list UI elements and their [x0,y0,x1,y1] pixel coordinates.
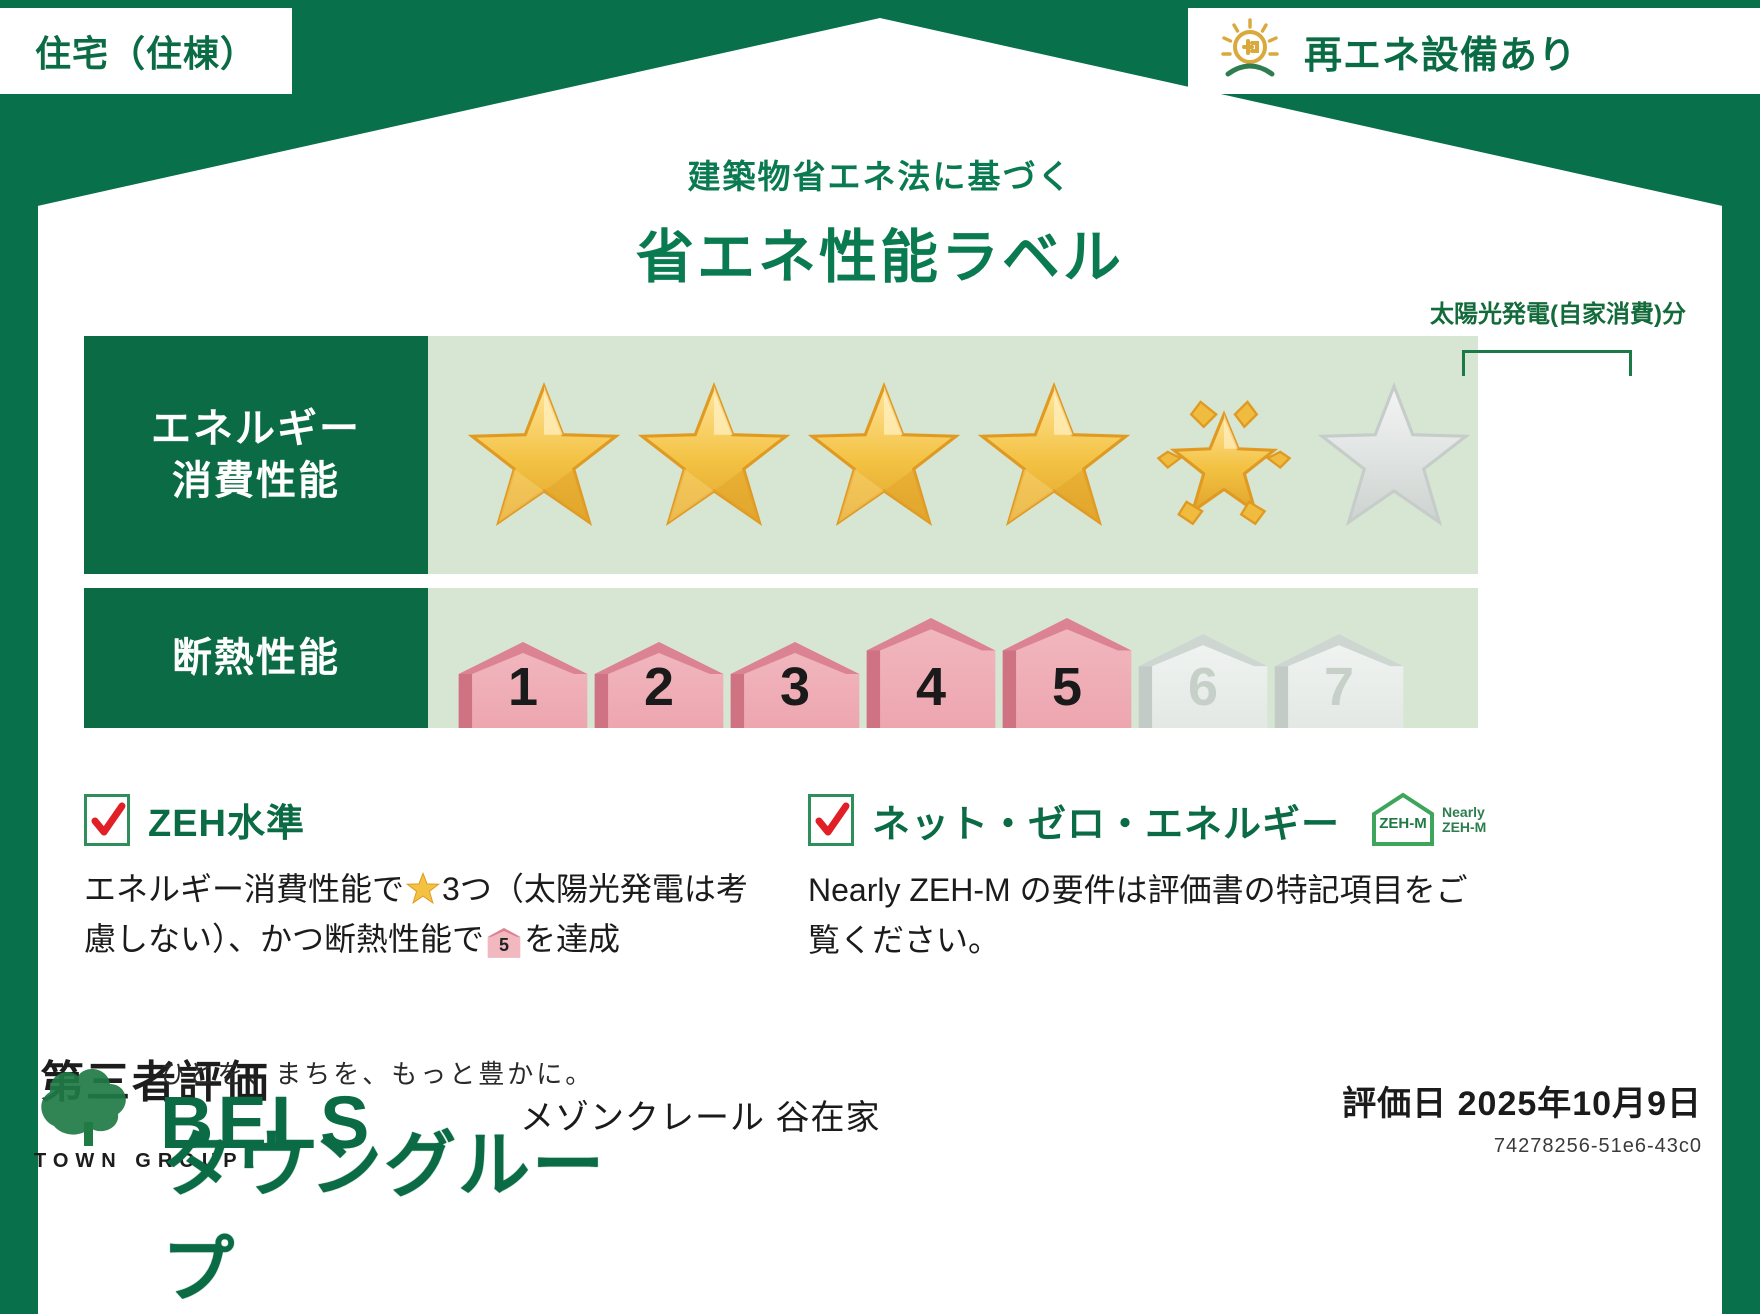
insulation-house-5-number: 5 [1000,656,1134,718]
insulation-performance-label: 断熱性能 [84,588,428,728]
dwelling-type-tag: 住宅（住棟） [0,8,292,94]
insulation-house-6-number: 6 [1136,656,1270,718]
company-tagline: ひとを、まちを、もっと豊かに。 [160,1054,594,1091]
inline-house-number: 5 [487,932,521,960]
dwelling-type-label: 住宅（住棟） [35,25,257,77]
insulation-house-4: 4 [864,618,998,728]
star-1-filled [464,380,624,530]
zeh-body-part1: エネルギー消費性能で [84,871,404,907]
star-5-solar-burst [1144,380,1304,530]
insulation-house-3: 3 [728,642,862,728]
zeh-standard-column: ZEH水準 エネルギー消費性能で3つ（太陽光発電は考慮しない）、かつ断熱性能で5… [84,792,764,965]
evaluation-date-value: 2025年10月9日 [1458,1085,1702,1123]
energy-label-page: 住宅（住棟） 再エネ設備あり 建築物省エネ法に基づく [0,0,1760,1314]
inline-house-icon: 5 [487,923,521,961]
footer-green-right [1722,1028,1760,1314]
performance-rows: エネルギー 消費性能 太陽光発電(自家消費)分 [84,336,1478,742]
insulation-house-2-number: 2 [592,656,726,718]
insulation-house-1: 1 [456,642,590,728]
solar-plug-icon [1214,16,1286,87]
zeh-standard-title: ZEH水準 [148,792,305,847]
insulation-house-2: 2 [592,642,726,728]
energy-performance-row: エネルギー 消費性能 太陽光発電(自家消費)分 [84,336,1478,574]
net-zero-header: ネット・ゼロ・エネルギー ZEH-M Nearly ZEH-M [808,792,1488,848]
zeh-section: ZEH水準 エネルギー消費性能で3つ（太陽光発電は考慮しない）、かつ断熱性能で5… [84,792,1488,965]
insulation-house-1-number: 1 [456,656,590,718]
net-zero-body: Nearly ZEH-M の要件は評価書の特記項目をご覧ください。 [808,866,1488,965]
star-4-filled [974,380,1134,530]
evaluation-id: 74278256-51e6-43c0 [1342,1135,1702,1158]
energy-performance-body: 太陽光発電(自家消費)分 [428,336,1478,574]
insulation-grade-scale: 1 2 [428,588,1406,728]
zeh-m-logo: ZEH-M Nearly ZEH-M [1368,792,1486,848]
title-main: 省エネ性能ラベル [0,210,1760,294]
star-rating [428,380,1474,530]
insulation-house-7: 7 [1272,634,1406,728]
evaluation-date: 評価日 2025年10月9日 [1342,1076,1702,1125]
zeh-standard-checkbox[interactable] [84,794,130,846]
solar-generation-note: 太陽光発電(自家消費)分 [1430,294,1686,329]
zeh-standard-body: エネルギー消費性能で3つ（太陽光発電は考慮しない）、かつ断熱性能で5を達成 [84,865,764,964]
insulation-house-6: 6 [1136,634,1270,728]
net-zero-title: ネット・ゼロ・エネルギー [872,793,1340,848]
title-block: 建築物省エネ法に基づく 省エネ性能ラベル [0,150,1760,294]
zeh-m-label: ZEH-M [1442,820,1486,835]
evaluation-info: 評価日 2025年10月9日 74278256-51e6-43c0 [1342,1076,1702,1158]
zeh-m-nearly-label: Nearly [1442,805,1486,820]
insulation-house-3-number: 3 [728,656,862,718]
solar-bracket [1462,350,1632,376]
energy-performance-label: エネルギー 消費性能 [84,336,428,574]
energy-label-line1: エネルギー [151,403,361,455]
star-3-filled [804,380,964,530]
insulation-performance-body: 1 2 [428,588,1478,728]
star-6-empty [1314,380,1474,530]
zeh-body-part3: を達成 [524,921,620,957]
insulation-house-7-number: 7 [1272,656,1406,718]
evaluation-date-label: 評価日 [1342,1085,1447,1123]
net-zero-checkbox[interactable] [808,794,854,846]
zeh-standard-header: ZEH水準 [84,792,764,847]
property-name: メゾンクレール 谷在家 [520,1090,880,1139]
tree-icon [24,1056,154,1148]
star-2-filled [634,380,794,530]
title-subtitle: 建築物省エネ法に基づく [0,150,1760,198]
energy-label-line2: 消費性能 [172,455,340,507]
svg-text:ZEH-M: ZEH-M [1379,815,1427,832]
footer: 第三者評価 BELS TOWN GROUP タウングループ ひとを、まちを、もっ… [0,1028,1760,1314]
renewable-equipment-badge: 再エネ設備あり [1188,8,1760,94]
insulation-house-5-achieved: 5 [1000,618,1134,728]
insulation-label-text: 断熱性能 [172,632,340,684]
net-zero-energy-column: ネット・ゼロ・エネルギー ZEH-M Nearly ZEH-M Nearly Z… [808,792,1488,965]
inline-star-icon [406,870,440,904]
insulation-house-4-number: 4 [864,656,998,718]
insulation-performance-row: 断熱性能 [84,588,1478,728]
renewable-badge-label: 再エネ設備あり [1304,24,1577,79]
